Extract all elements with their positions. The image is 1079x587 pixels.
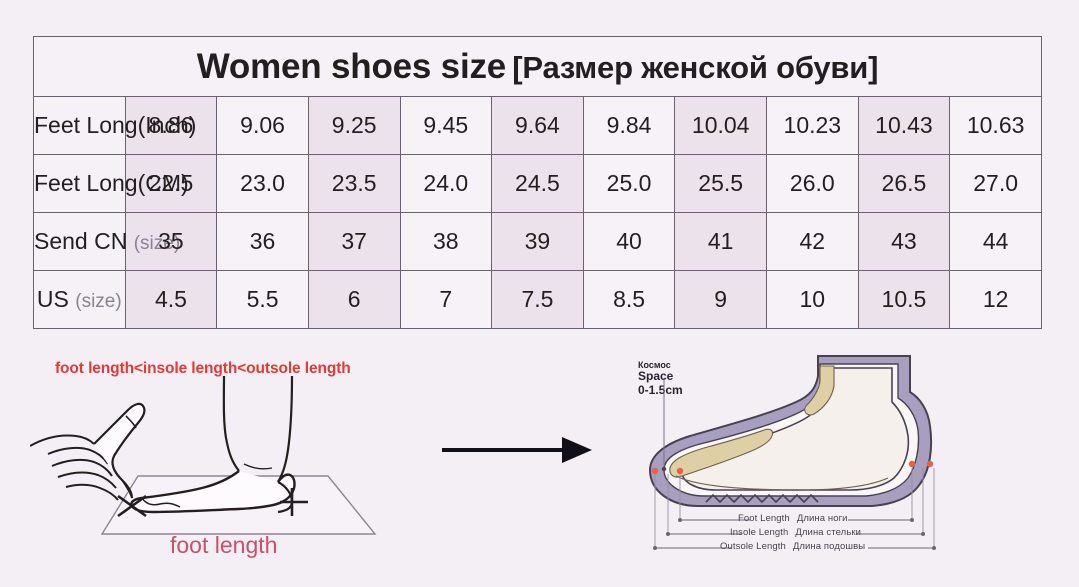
space-leader-dot	[662, 467, 666, 471]
cell-cm-7: 25.5	[675, 155, 767, 213]
foot-length-label: foot length	[170, 532, 277, 559]
cell-us-3: 6	[308, 271, 400, 329]
title-english: Women shoes size	[197, 47, 506, 86]
insole-length-en: Insole Length	[730, 527, 788, 538]
size-chart-table: Women shoes size [Размер женской обуви] …	[33, 36, 1042, 329]
row-label-send-cn: Send CN (size)	[34, 213, 126, 271]
foot-length-en: Foot Length	[738, 513, 790, 524]
foot-measure-illustration: foot length<insole length<outsole length	[30, 360, 430, 585]
cell-cn-5: 39	[492, 213, 584, 271]
table-row: Feet Long(Inch) 8.86 9.06 9.25 9.45 9.64…	[34, 97, 1042, 155]
cell-cm-6: 25.0	[583, 155, 675, 213]
outsole-length-ru: Длина подошвы	[793, 541, 865, 552]
tick-marker-toe-inner	[677, 468, 683, 474]
dim-dot-outsole-right	[932, 546, 936, 550]
tick-marker-heel-outer	[927, 461, 933, 467]
row-label-us: US (size)	[34, 271, 126, 329]
cell-us-6: 8.5	[583, 271, 675, 329]
title-russian: [Размер женской обуви]	[512, 50, 878, 85]
cell-cm-10: 27.0	[950, 155, 1042, 213]
dim-dot-insole-left	[666, 532, 670, 536]
measurement-label-outsole-length: Outsole LengthДлина подошвы	[720, 541, 865, 555]
foot-length-ru: Длина ноги	[797, 513, 848, 524]
cell-cm-4: 24.0	[400, 155, 492, 213]
hand-finger-2	[52, 460, 112, 476]
cell-inch-7: 10.04	[675, 97, 767, 155]
table-row: US (size) 4.5 5.5 6 7 7.5 8.5 9 10 10.5 …	[34, 271, 1042, 329]
table-title-cell: Women shoes size [Размер женской обуви]	[34, 37, 1042, 97]
cell-us-2: 5.5	[217, 271, 309, 329]
right-arrow-svg	[440, 430, 600, 470]
tick-marker-heel-inner	[909, 461, 915, 467]
table-row: Feet Long(CM) 22.5 23.0 23.5 24.0 24.5 2…	[34, 155, 1042, 213]
arrow-head	[562, 437, 592, 463]
cell-cn-7: 41	[675, 213, 767, 271]
cell-cm-8: 26.0	[767, 155, 859, 213]
cell-cm-3: 23.5	[308, 155, 400, 213]
cell-us-4: 7	[400, 271, 492, 329]
right-arrow-icon	[440, 430, 600, 470]
measurement-label-insole-length: Insole LengthДлина стельки	[730, 527, 861, 541]
dim-dot-foot-right	[910, 518, 914, 522]
dim-dot-foot-left	[678, 518, 682, 522]
cell-inch-5: 9.64	[492, 97, 584, 155]
cell-cn-8: 42	[767, 213, 859, 271]
cell-inch-8: 10.23	[767, 97, 859, 155]
cell-us-5: 7.5	[492, 271, 584, 329]
table-row: Send CN (size) 35 36 37 38 39 40 41 42 4…	[34, 213, 1042, 271]
leg-back-line	[278, 376, 292, 482]
cell-cn-10: 44	[950, 213, 1042, 271]
cell-inch-10: 10.63	[950, 97, 1042, 155]
hand-finger-4	[66, 485, 118, 500]
cell-cn-2: 36	[217, 213, 309, 271]
cell-cm-9: 26.5	[858, 155, 950, 213]
cell-inch-2: 9.06	[217, 97, 309, 155]
ankle-line	[244, 464, 272, 469]
row-label-feet-long-inch: Feet Long(Inch)	[34, 97, 126, 155]
row-label-feet-long-cm: Feet Long(CM)	[34, 155, 126, 213]
outsole-length-en: Outsole Length	[720, 541, 786, 552]
cell-cn-3: 37	[308, 213, 400, 271]
cell-inch-4: 9.45	[400, 97, 492, 155]
cell-cn-4: 38	[400, 213, 492, 271]
cell-cm-5: 24.5	[492, 155, 584, 213]
row-label-us-sub: (size)	[75, 291, 121, 312]
cell-inch-3: 9.25	[308, 97, 400, 155]
cell-us-1: 4.5	[125, 271, 217, 329]
dim-dot-insole-right	[921, 532, 925, 536]
cell-us-7: 9	[675, 271, 767, 329]
shoe-cross-section-illustration: Космос Space 0-1.5cm	[620, 352, 965, 587]
size-chart-table-container: Women shoes size [Размер женской обуви] …	[33, 36, 1042, 324]
insole-length-ru: Длина стельки	[795, 527, 861, 538]
dim-dot-outsole-left	[653, 546, 657, 550]
cell-cm-2: 23.0	[217, 155, 309, 213]
tick-marker-toe-outer	[652, 468, 658, 474]
cell-us-10: 12	[950, 271, 1042, 329]
table-title-row: Women shoes size [Размер женской обуви]	[34, 37, 1042, 97]
hand-wrist-line	[30, 435, 94, 446]
cell-inch-6: 9.84	[583, 97, 675, 155]
leg-front-line	[224, 376, 239, 471]
cell-cn-9: 43	[858, 213, 950, 271]
illustration-band: foot length<insole length<outsole length	[0, 330, 1079, 587]
cell-us-9: 10.5	[858, 271, 950, 329]
cell-us-8: 10	[767, 271, 859, 329]
cell-inch-9: 10.43	[858, 97, 950, 155]
cell-cn-6: 40	[583, 213, 675, 271]
measurement-label-foot-length: Foot LengthДлина ноги	[738, 513, 848, 527]
